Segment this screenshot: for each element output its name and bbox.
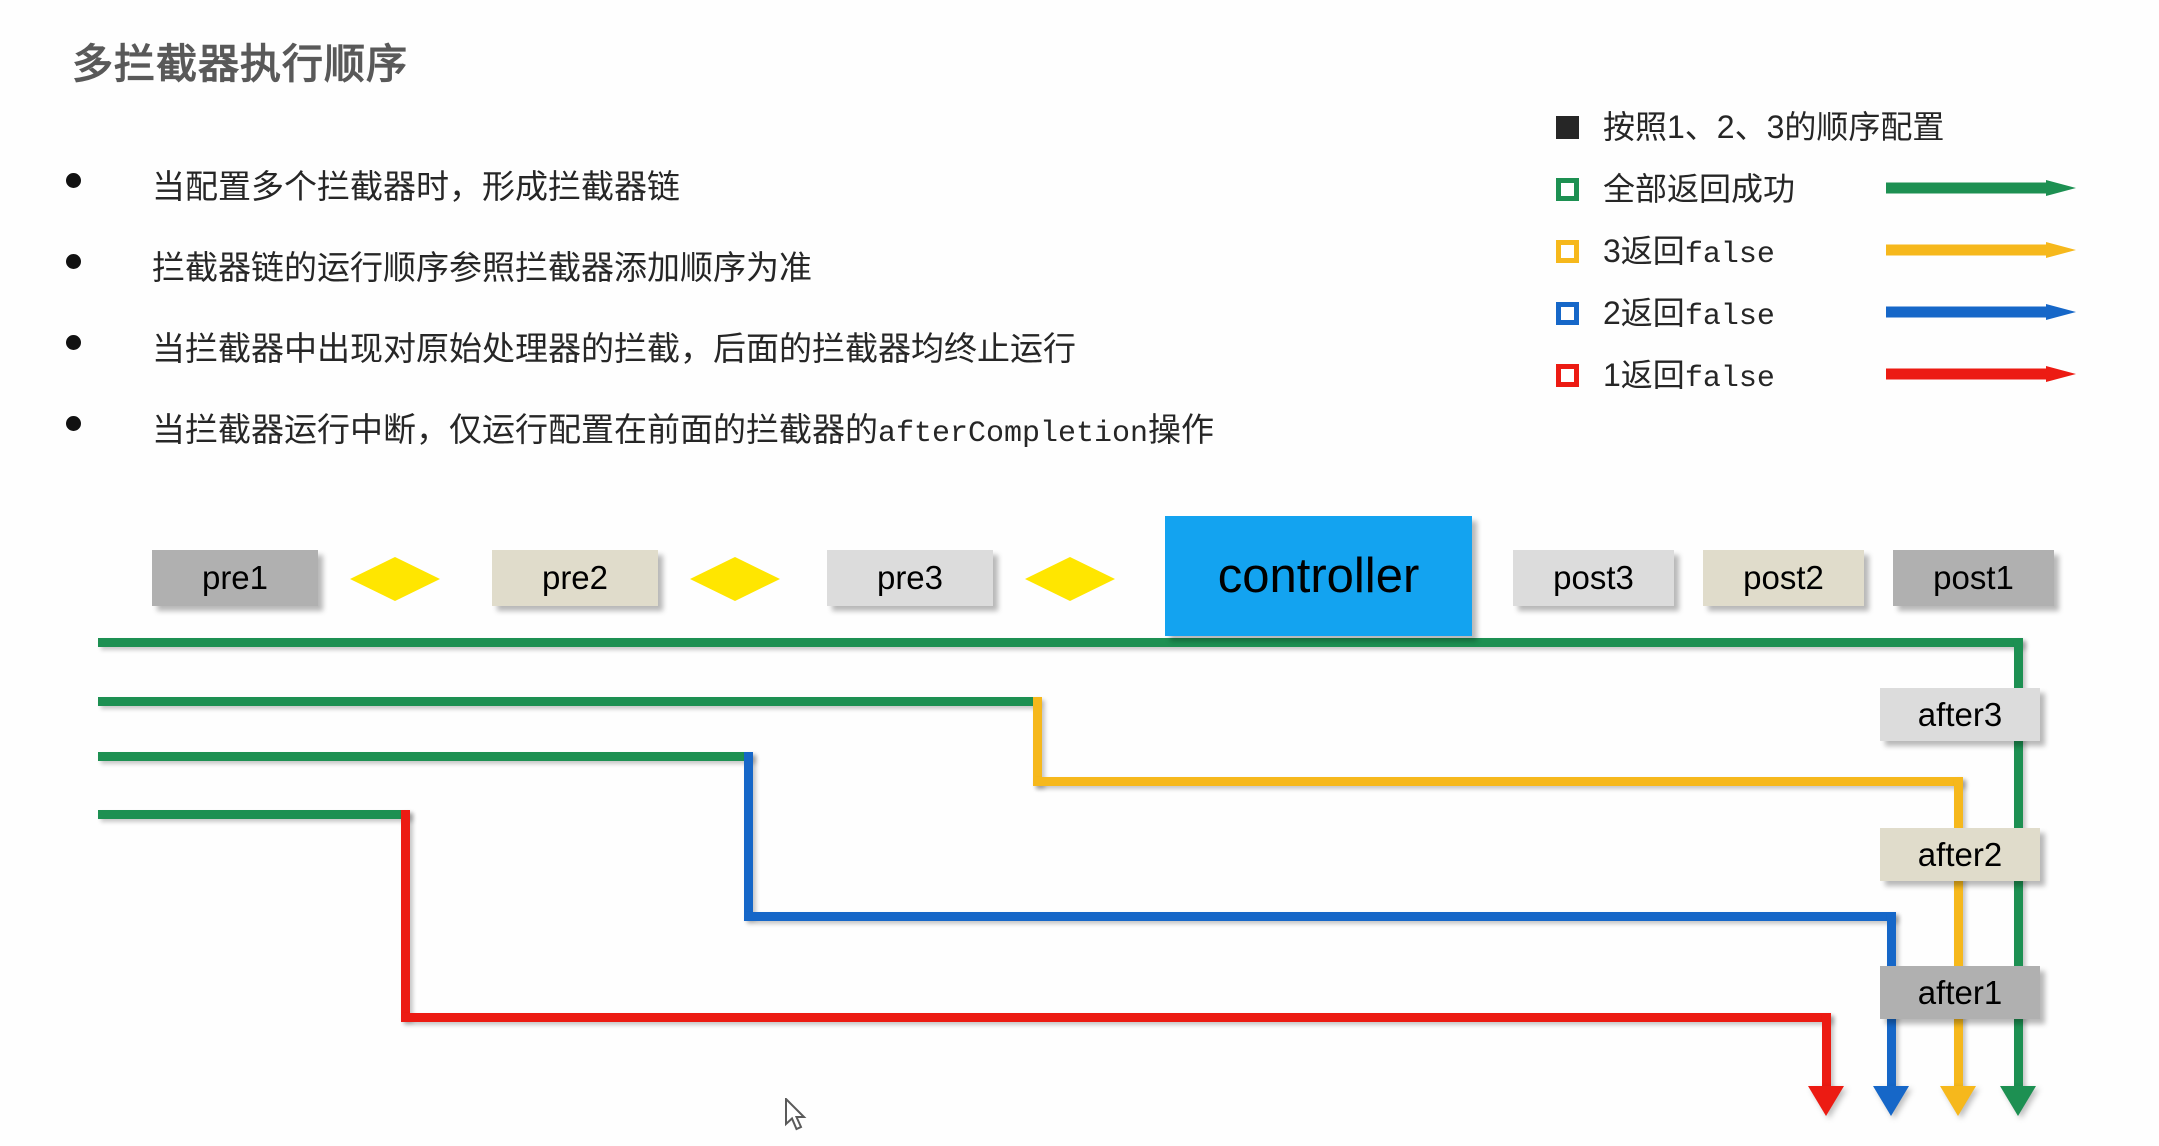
legend-label: 按照1、2、3的顺序配置 (1603, 102, 1944, 148)
flow-node-after2[interactable]: after2 (1880, 828, 2040, 881)
bullet-dot-icon (66, 254, 81, 269)
list-item: 拦截器链的运行顺序参照拦截器添加顺序为准 (62, 251, 1522, 284)
flow-node-label: after1 (1918, 974, 2002, 1012)
flow-node-post3[interactable]: post3 (1513, 550, 1674, 606)
list-item: 当拦截器中出现对原始处理器的拦截，后面的拦截器均终止运行 (62, 332, 1522, 365)
hollow-square-icon (1556, 240, 1579, 263)
flow-node-pre2[interactable]: pre2 (492, 550, 658, 606)
page-title: 多拦截器执行顺序 (72, 30, 408, 90)
flow-node-label: post3 (1553, 559, 1634, 597)
bullet-text: 当拦截器运行中断，仅运行配置在前面的拦截器的 (152, 411, 878, 448)
list-item: 当配置多个拦截器时，形成拦截器链 (62, 170, 1522, 203)
bullet-code: afterCompletion (878, 417, 1148, 451)
route-red-vertical-2 (1822, 1013, 1831, 1088)
arrow-right-icon (1886, 366, 2076, 382)
bullet-text: 当配置多个拦截器时，形成拦截器链 (152, 168, 680, 205)
route-red-prefix-green (98, 810, 410, 819)
slide-canvas: 多拦截器执行顺序 当配置多个拦截器时，形成拦截器链 拦截器链的运行顺序参照拦截器… (0, 0, 2159, 1146)
route-orange-vertical-1 (1033, 697, 1042, 786)
route-red-vertical-1 (401, 810, 410, 1020)
hollow-square-icon (1556, 364, 1579, 387)
flow-node-after1[interactable]: after1 (1880, 966, 2040, 1019)
flow-node-label: controller (1218, 548, 1420, 604)
flow-node-pre3[interactable]: pre3 (827, 550, 993, 606)
route-blue-horizontal (744, 912, 1896, 921)
route-orange-vertical-2 (1954, 777, 1963, 1088)
legend-label: 1返回false (1603, 350, 1775, 396)
flow-node-post1[interactable]: post1 (1893, 550, 2054, 606)
route-red-horizontal (401, 1013, 1831, 1022)
bullet-dot-icon (66, 335, 81, 350)
route-orange-arrowhead-icon (1940, 1086, 1976, 1116)
flow-connector-diamond-2 (690, 557, 780, 601)
legend-label: 2返回false (1603, 288, 1775, 334)
flow-connector-diamond-3 (1025, 557, 1115, 601)
bullet-text: 拦截器链的运行顺序参照拦截器添加顺序为准 (152, 249, 812, 286)
arrow-right-icon (1886, 304, 2076, 320)
bullet-text: 当拦截器中出现对原始处理器的拦截，后面的拦截器均终止运行 (152, 330, 1076, 367)
flow-node-post2[interactable]: post2 (1703, 550, 1864, 606)
legend-label: 全部返回成功 (1603, 164, 1795, 210)
bullet-list: 当配置多个拦截器时，形成拦截器链 拦截器链的运行顺序参照拦截器添加顺序为准 当拦… (62, 170, 1522, 497)
route-blue-vertical-1 (744, 752, 753, 918)
arrow-right-icon (1886, 242, 2076, 258)
hollow-square-icon (1556, 178, 1579, 201)
flow-node-label: after2 (1918, 836, 2002, 874)
flow-node-label: post2 (1743, 559, 1824, 597)
arrow-right-icon (1886, 180, 2076, 196)
list-item: 当拦截器运行中断，仅运行配置在前面的拦截器的afterCompletion操作 (62, 413, 1522, 449)
flow-node-label: pre1 (202, 559, 268, 597)
flow-node-after3[interactable]: after3 (1880, 688, 2040, 741)
flow-node-label: after3 (1918, 696, 2002, 734)
route-blue-prefix-green (98, 752, 753, 761)
flow-node-controller[interactable]: controller (1165, 516, 1472, 636)
legend-label: 3返回false (1603, 226, 1775, 272)
route-orange-prefix-green (98, 697, 1038, 706)
flow-node-label: pre2 (542, 559, 608, 597)
flow-connector-diamond-1 (350, 557, 440, 601)
hollow-square-icon (1556, 302, 1579, 325)
bullet-dot-icon (66, 416, 81, 431)
route-red-arrowhead-icon (1808, 1086, 1844, 1116)
route-orange-horizontal (1033, 777, 1963, 786)
filled-square-icon (1556, 116, 1579, 139)
route-blue-arrowhead-icon (1873, 1086, 1909, 1116)
flow-node-pre1[interactable]: pre1 (152, 550, 318, 606)
mouse-cursor-icon (784, 1098, 810, 1134)
bullet-dot-icon (66, 173, 81, 188)
route-green-horizontal (98, 638, 2023, 647)
flow-node-label: post1 (1933, 559, 2014, 597)
bullet-text-tail: 操作 (1148, 411, 1214, 448)
flow-node-label: pre3 (877, 559, 943, 597)
route-green-arrowhead-icon (2000, 1086, 2036, 1116)
